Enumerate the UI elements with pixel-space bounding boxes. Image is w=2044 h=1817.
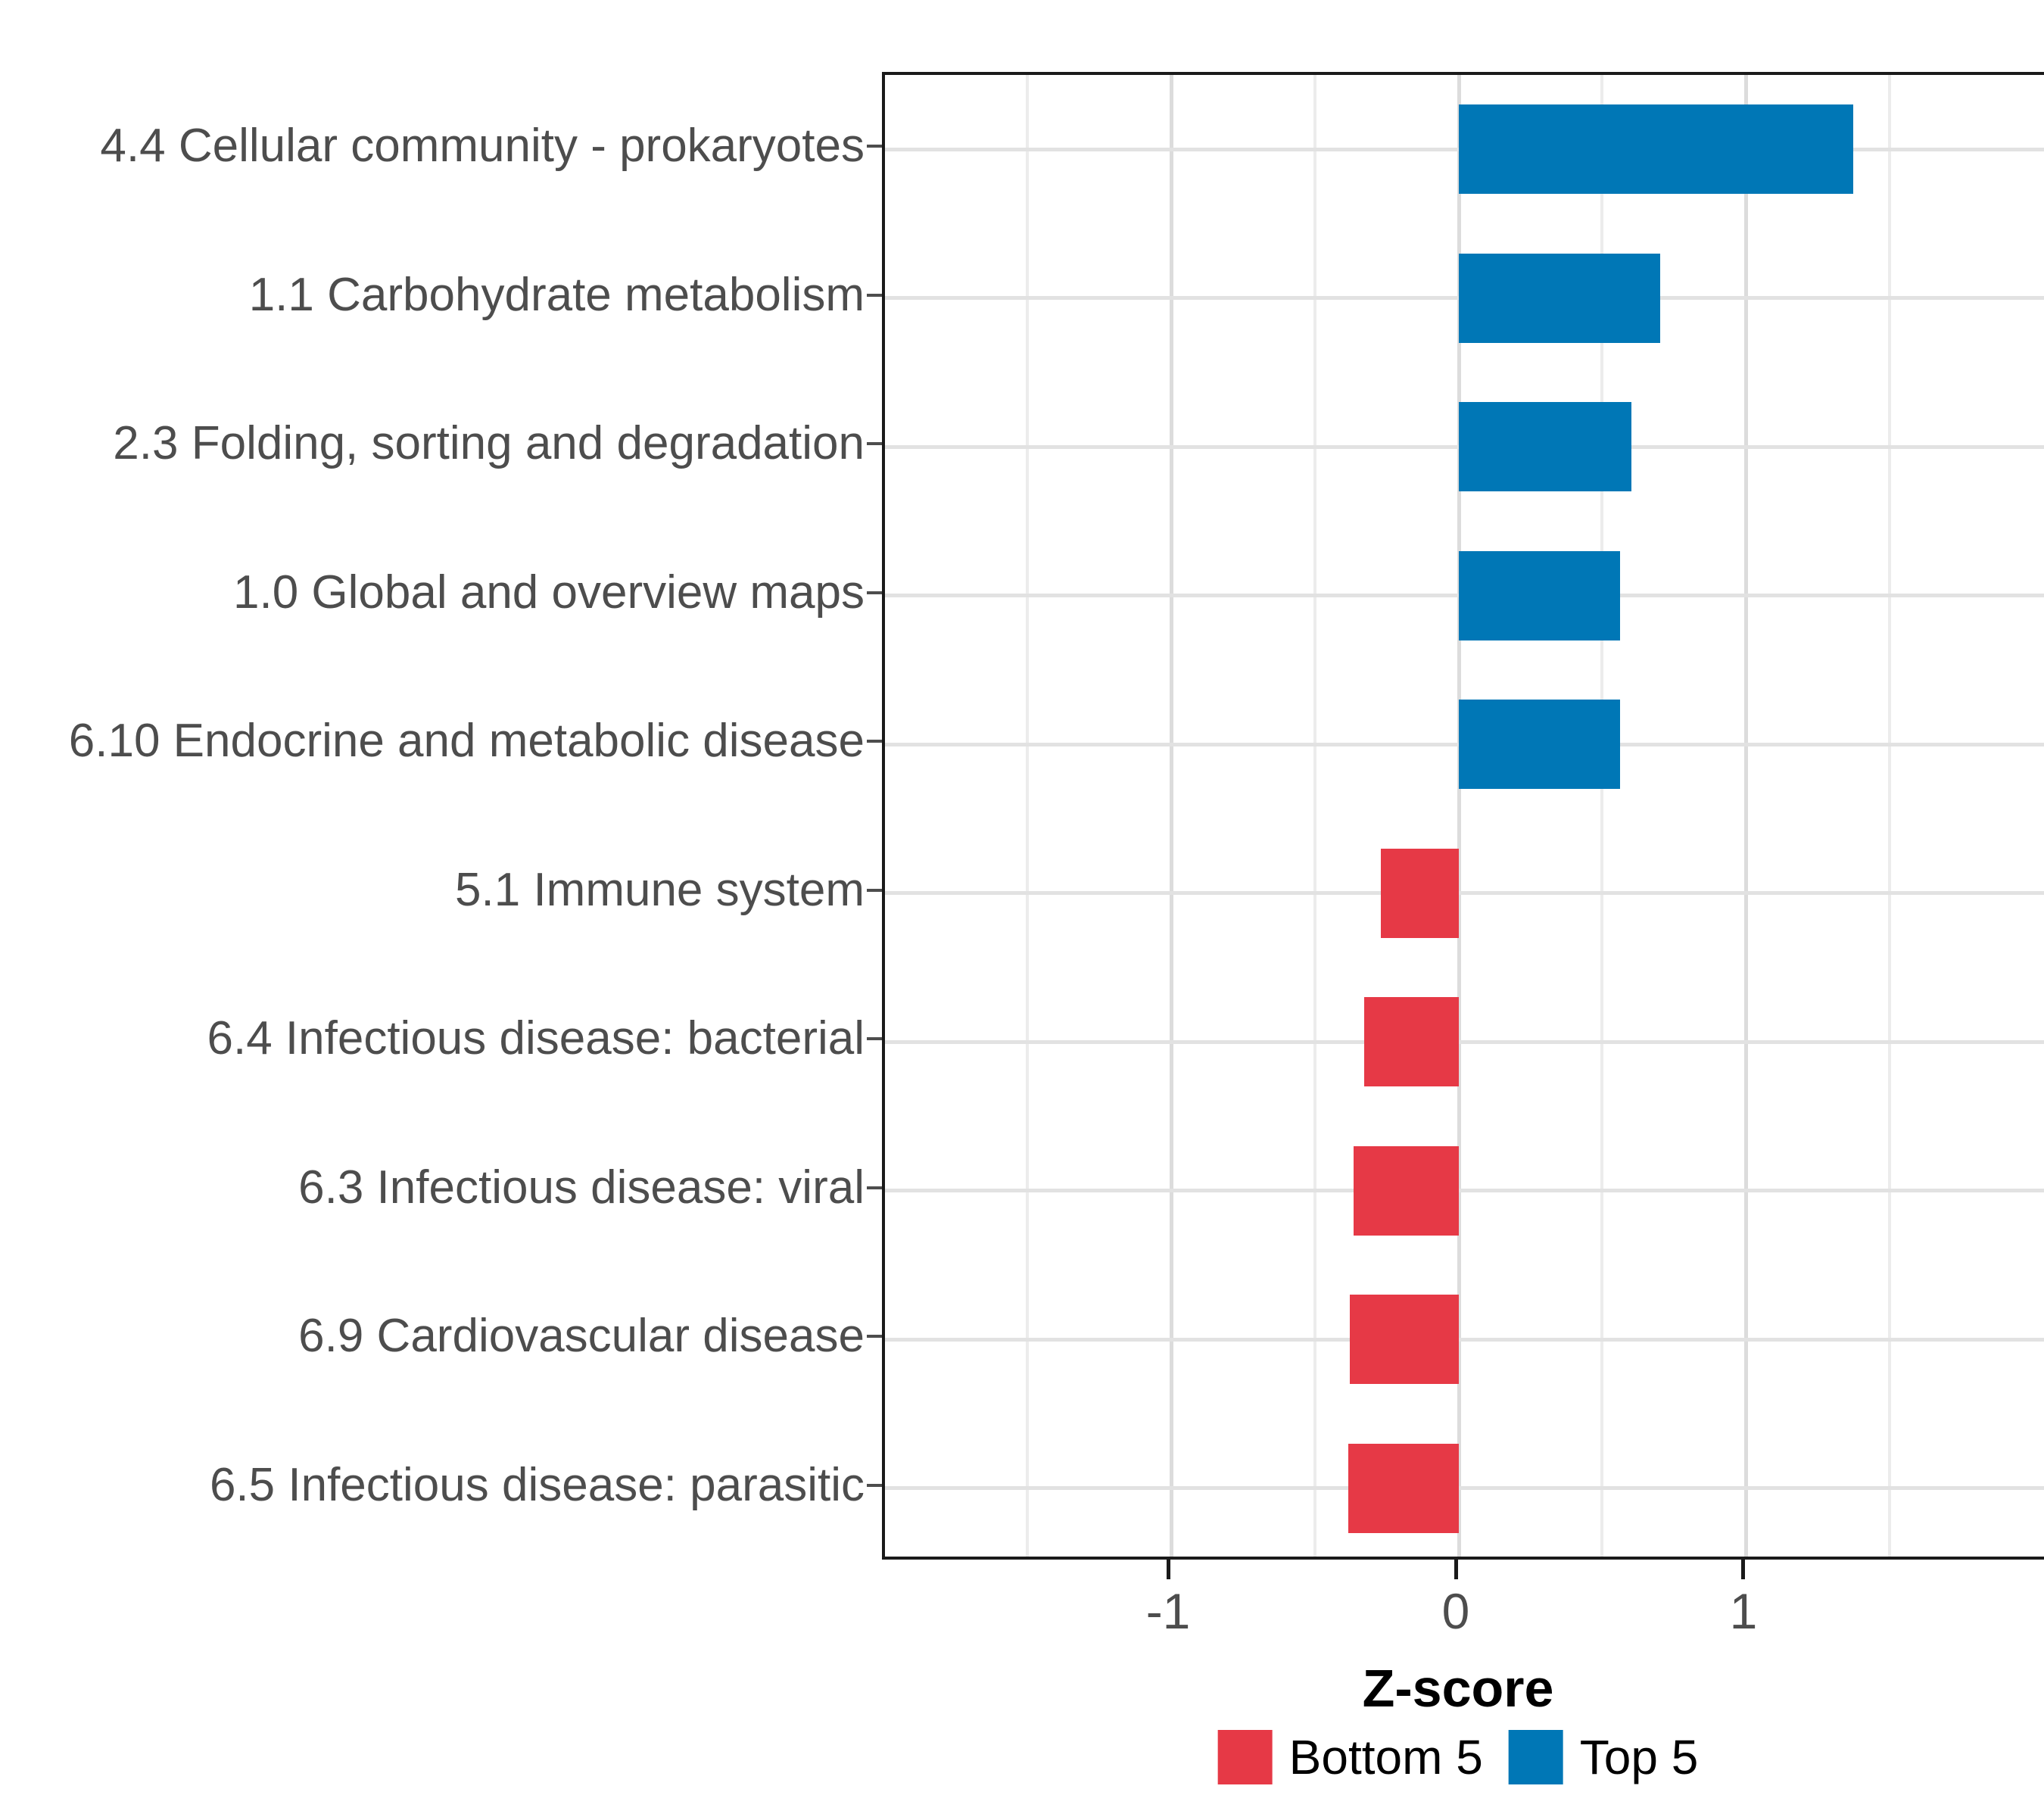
y-axis-tick-mark	[867, 740, 882, 743]
y-axis-tick-mark	[867, 294, 882, 297]
y-axis-tick-mark	[867, 889, 882, 892]
bar[interactable]	[1459, 402, 1631, 491]
y-axis-tick-mark	[867, 1186, 882, 1189]
y-axis-tick-mark	[867, 1335, 882, 1338]
y-axis-tick-mark	[867, 1484, 882, 1487]
legend-item[interactable]: Top 5	[1509, 1730, 1699, 1784]
bar[interactable]	[1381, 849, 1459, 938]
y-axis-tick-mark	[867, 591, 882, 594]
plot-panel	[882, 72, 2044, 1560]
x-axis-title: Z-score	[1363, 1658, 1554, 1719]
y-axis-tick-mark	[867, 442, 882, 445]
x-axis-tick-label: 1	[1668, 1584, 1819, 1638]
bar[interactable]	[1459, 104, 1853, 194]
x-axis-tick-label: 0	[1380, 1584, 1531, 1638]
gridline-horizontal	[885, 891, 2044, 895]
gridline-horizontal	[885, 1338, 2044, 1342]
legend-item-label: Top 5	[1580, 1733, 1699, 1781]
gridline-horizontal	[885, 1040, 2044, 1044]
y-axis-tick-label: 4.4 Cellular community - prokaryotes	[100, 123, 865, 170]
bar[interactable]	[1354, 1146, 1459, 1236]
y-axis-tick-label: 1.1 Carbohydrate metabolism	[249, 272, 865, 319]
bar[interactable]	[1364, 997, 1459, 1086]
gridline-horizontal	[885, 1189, 2044, 1192]
y-axis-tick-label: 6.10 Endocrine and metabolic disease	[69, 718, 865, 765]
y-axis-tick-label: 5.1 Immune system	[455, 867, 865, 914]
bar[interactable]	[1459, 551, 1620, 640]
bar[interactable]	[1459, 254, 1660, 343]
y-axis-tick-label: 6.5 Infectious disease: parasitic	[210, 1462, 865, 1509]
chart-legend: Bottom 5Top 5	[1218, 1730, 1699, 1784]
y-axis-tick-label: 1.0 Global and overview maps	[233, 569, 865, 616]
bar[interactable]	[1350, 1295, 1459, 1384]
legend-swatch-icon	[1218, 1730, 1273, 1784]
x-axis-tick-mark	[1741, 1560, 1745, 1579]
legend-item[interactable]: Bottom 5	[1218, 1730, 1483, 1784]
y-axis-tick-label: 6.3 Infectious disease: viral	[298, 1164, 865, 1211]
y-axis-tick-mark	[867, 145, 882, 148]
bar-chart-figure: 4.4 Cellular community - prokaryotes1.1 …	[0, 0, 2044, 1817]
bar[interactable]	[1348, 1444, 1459, 1533]
legend-swatch-icon	[1509, 1730, 1563, 1784]
y-axis-tick-label: 2.3 Folding, sorting and degradation	[113, 420, 865, 467]
bar[interactable]	[1459, 700, 1620, 789]
gridline-horizontal	[885, 1486, 2044, 1490]
legend-item-label: Bottom 5	[1289, 1733, 1483, 1781]
y-axis-tick-mark	[867, 1037, 882, 1040]
y-axis-tick-label: 6.4 Infectious disease: bacterial	[207, 1015, 865, 1062]
x-axis-tick-mark	[1454, 1560, 1458, 1579]
x-axis-tick-mark	[1167, 1560, 1170, 1579]
y-axis-tick-label: 6.9 Cardiovascular disease	[298, 1313, 865, 1360]
x-axis-tick-label: -1	[1092, 1584, 1244, 1638]
